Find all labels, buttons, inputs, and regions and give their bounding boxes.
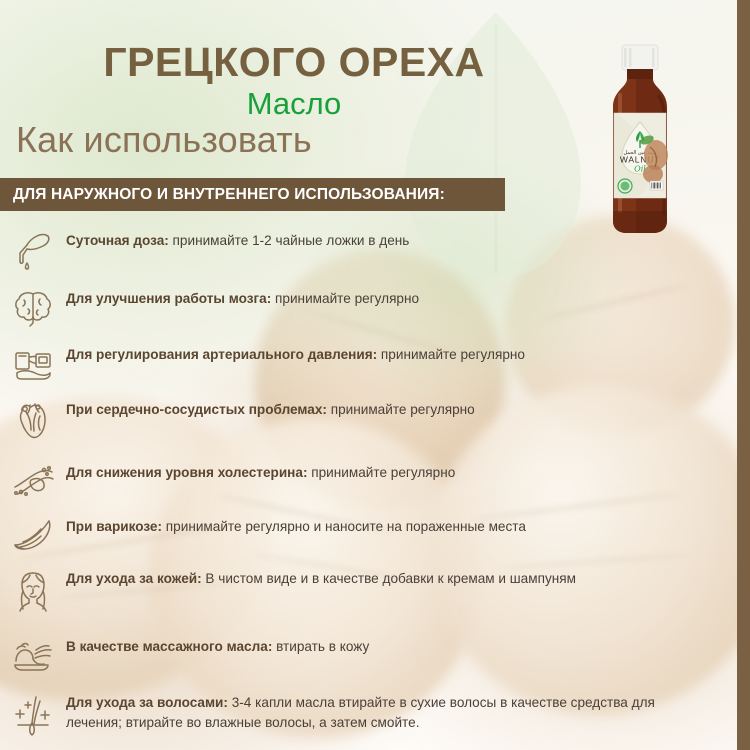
list-item: Суточная доза: принимайте 1-2 чайные лож… (0, 230, 700, 273)
list-item: При сердечно-сосудистых проблемах: прини… (0, 399, 700, 442)
list-item-text: Для улучшения работы мозга: принимайте р… (66, 288, 425, 309)
list-item-text: Суточная доза: принимайте 1-2 чайные лож… (66, 230, 415, 251)
list-item-bold: В качестве массажного масла: (66, 639, 272, 654)
list-item-text: Для снижения уровня холестерина: принима… (66, 462, 461, 483)
hair-follicle-icon (0, 692, 66, 737)
list-item: В качестве массажного масла: втирать в к… (0, 636, 700, 677)
list-item-bold: Для ухода за кожей: (66, 571, 202, 586)
massage-hands-icon (0, 636, 66, 677)
list-item-bold: Суточная доза: (66, 233, 169, 248)
howto-heading: Как использовать (16, 122, 312, 158)
list-item: Для ухода за волосами: 3-4 капли масла в… (0, 692, 700, 737)
list-item-bold: Для улучшения работы мозга: (66, 291, 271, 306)
list-item: При варикозе: принимайте регулярно и нан… (0, 516, 700, 555)
list-item-text: В качестве массажного масла: втирать в к… (66, 636, 375, 657)
oil-bottle-icon: زيت عين الجمل WALNUT Oil (600, 43, 680, 235)
list-item-bold: Для регулирования артериального давления… (66, 347, 377, 362)
list-item-rest: принимайте регулярно (271, 291, 419, 306)
page-title: ГРЕЦКОГО ОРЕХА (0, 42, 588, 83)
list-item-rest: принимайте регулярно (327, 402, 475, 417)
list-item-bold: Для ухода за волосами: (66, 695, 228, 710)
list-item: Для улучшения работы мозга: принимайте р… (0, 288, 700, 329)
brain-icon (0, 288, 66, 329)
list-item-text: Для ухода за кожей: В чистом виде и в ка… (66, 568, 582, 589)
usage-ribbon: ДЛЯ НАРУЖНОГО И ВНУТРЕННЕГО ИСПОЛЬЗОВАНИ… (0, 178, 505, 211)
list-item-text: При варикозе: принимайте регулярно и нан… (66, 516, 532, 537)
blood-pressure-monitor-icon (0, 344, 66, 385)
list-item-rest: принимайте 1-2 чайные ложки в день (169, 233, 410, 248)
infographic-poster: ГРЕЦКОГО ОРЕХА Масло Как использовать ДЛ… (0, 0, 750, 750)
leg-varicose-icon (0, 516, 66, 555)
usage-ribbon-label: ДЛЯ НАРУЖНОГО И ВНУТРЕННЕГО ИСПОЛЬЗОВАНИ… (0, 186, 445, 204)
list-item-text: Для регулирования артериального давления… (66, 344, 531, 365)
list-item: Для ухода за кожей: В чистом виде и в ка… (0, 568, 700, 613)
list-item-rest: принимайте регулярно (307, 465, 455, 480)
page-subtitle: Масло (0, 88, 588, 119)
list-item-rest: принимайте регулярно и наносите на пораж… (162, 519, 526, 534)
heart-icon (0, 399, 66, 442)
list-item-bold: При варикозе: (66, 519, 162, 534)
face-skincare-icon (0, 568, 66, 613)
list-item-bold: Для снижения уровня холестерина: (66, 465, 307, 480)
right-edge-bar (737, 0, 750, 750)
list-item: Для снижения уровня холестерина: принима… (0, 462, 700, 501)
list-item-text: Для ухода за волосами: 3-4 капли масла в… (66, 692, 700, 732)
list-item-rest: принимайте регулярно (377, 347, 525, 362)
list-item-rest: втирать в кожу (272, 639, 369, 654)
list-item: Для регулирования артериального давления… (0, 344, 700, 385)
artery-cholesterol-icon (0, 462, 66, 501)
list-item-bold: При сердечно-сосудистых проблемах: (66, 402, 327, 417)
spoon-drop-icon (0, 230, 66, 273)
list-item-rest: В чистом виде и в качестве добавки к кре… (202, 571, 576, 586)
list-item-text: При сердечно-сосудистых проблемах: прини… (66, 399, 481, 420)
